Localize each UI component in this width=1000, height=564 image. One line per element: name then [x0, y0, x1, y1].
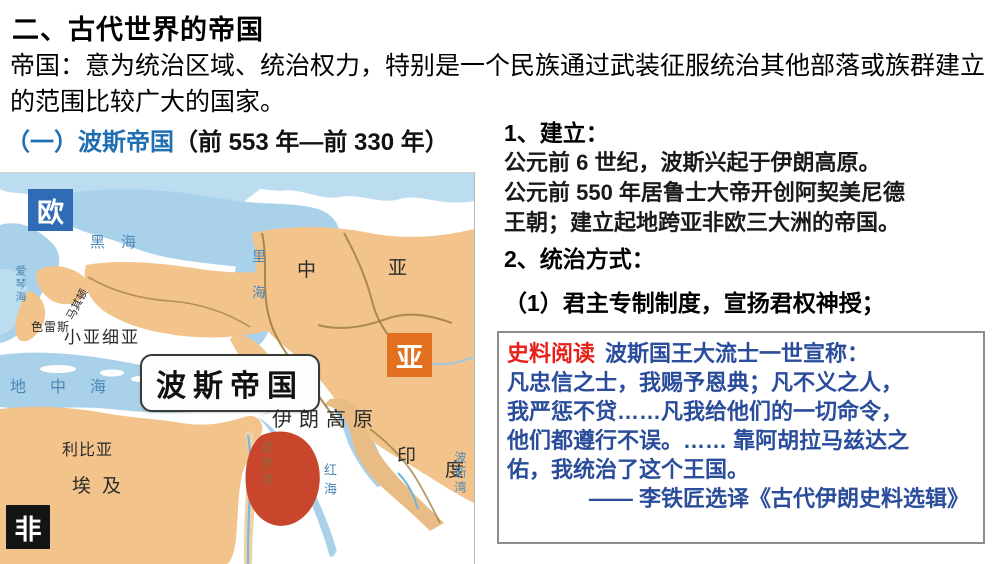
source-reading-box: 史料阅读波斯国王大流士一世宣称： 凡忠信之士，我赐予恩典；凡不义之人， 我严惩不…	[497, 331, 985, 544]
map-label-asia-inner: 亚	[388, 253, 407, 280]
rule-item-1: （1）君主专制制度，宣扬君权神授；	[504, 288, 885, 319]
map-sealabel-mediterranean: 地中海	[10, 373, 130, 397]
section-one-heading: （一）波斯帝国（前 553 年—前 330 年）	[6, 126, 476, 159]
map-sealabel-nile: 尼罗河	[259, 441, 276, 489]
map-label-libya: 利比亚	[62, 436, 113, 460]
map-label-iranian-plateau: 伊朗高原	[272, 403, 380, 432]
page-title: 二、古代世界的帝国	[12, 8, 264, 47]
source-attribution: —— 李铁匠选译《古代伊朗史料选辑》	[507, 484, 975, 513]
establishment-line-1: 公元前 6 世纪，波斯兴起于伊朗高原。	[504, 148, 996, 178]
map-label-egypt: 埃及	[72, 471, 132, 498]
establishment-line-3: 王朝；建立起地跨亚非欧三大洲的帝国。	[504, 208, 996, 238]
map-sealabel-black-sea: 黑海	[90, 231, 152, 252]
establishment-line-2: 公元前 550 年居鲁士大帝开创阿契美尼德	[504, 178, 996, 208]
source-line-2: 凡忠信之士，我赐予恩典；凡不义之人，	[507, 368, 975, 397]
map-label-central: 中	[297, 255, 316, 282]
source-line-1: 史料阅读波斯国王大流士一世宣称：	[507, 339, 975, 368]
map-sealabel-persian-gulf: 波斯湾	[452, 451, 469, 496]
establishment-body: 公元前 6 世纪，波斯兴起于伊朗高原。 公元前 550 年居鲁士大帝开创阿契美尼…	[504, 148, 996, 238]
map-sealabel-caspian-sea: 里海	[248, 249, 268, 321]
map-sealabel-aegean: 爱琴海	[12, 265, 28, 304]
map-chip-europe: 欧	[28, 189, 73, 231]
map-chip-asia: 亚	[387, 333, 432, 377]
map-chip-africa: 非	[6, 505, 50, 549]
slide-root: 二、古代世界的帝国 帝国：意为统治区域、统治权力，特别是一个民族通过武装征服统治…	[0, 0, 1000, 563]
definition-paragraph: 帝国：意为统治区域、统治权力，特别是一个民族通过武装征服统治其他部落或族群建立的…	[10, 48, 990, 120]
section-one-label: （一）波斯帝国	[6, 129, 174, 156]
map-sealabel-red-sea: 红海	[319, 463, 338, 501]
heading-rule-methods: 2、统治方式：	[504, 244, 655, 275]
section-one-dates: （前 553 年—前 330 年）	[174, 129, 449, 156]
source-line-3: 我严惩不贷……凡我给他们的一切命令，	[507, 397, 975, 426]
source-line-4: 他们都遵行不误。…… 靠阿胡拉马兹达之	[507, 426, 975, 455]
source-line-5: 佑，我统治了这个王国。	[507, 455, 975, 484]
source-tag-label: 史料阅读	[507, 341, 595, 366]
map-label-india-1: 印	[397, 441, 416, 468]
source-text-1: 波斯国王大流士一世宣称：	[605, 341, 869, 366]
heading-establishment: 1、建立：	[504, 118, 609, 149]
map-label-asia-minor: 小亚细亚	[64, 323, 140, 348]
